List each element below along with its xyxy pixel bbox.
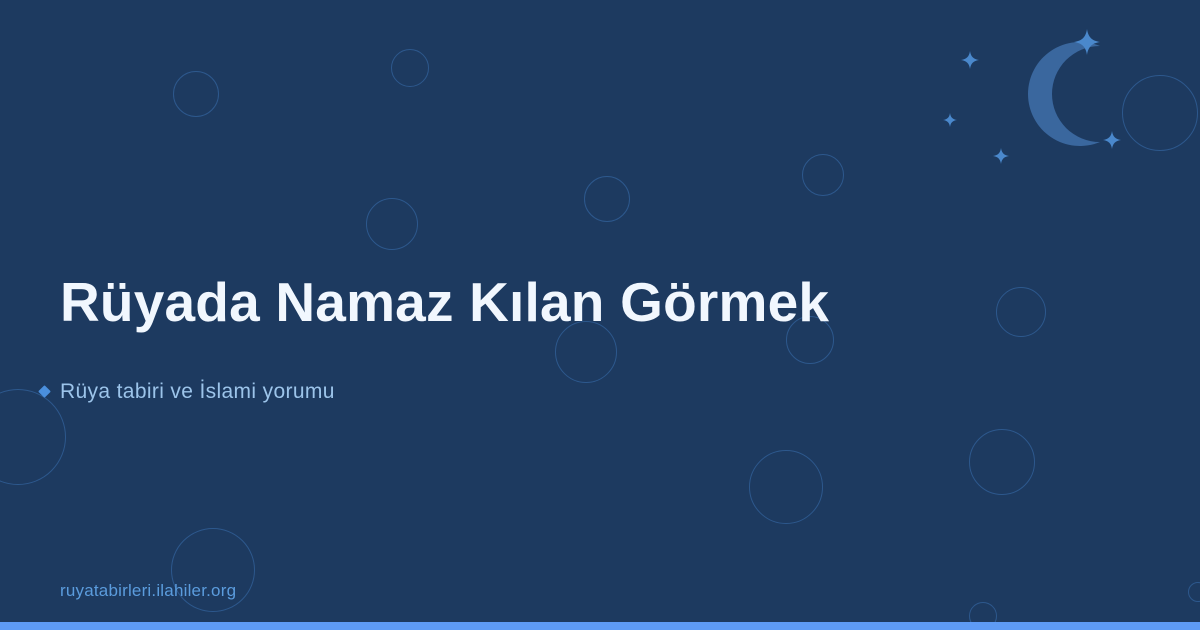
list-item: Rüya tabiri ve İslami yorumu xyxy=(40,379,335,404)
card-content: Rüyada Namaz Kılan Görmek Rüya tabiri ve… xyxy=(0,0,1200,630)
page-title: Rüyada Namaz Kılan Görmek xyxy=(60,272,829,334)
bullet-diamond-icon xyxy=(38,385,51,398)
subtitle-text: Rüya tabiri ve İslami yorumu xyxy=(60,379,335,404)
bottom-accent-bar xyxy=(0,622,1200,630)
site-url: ruyatabirleri.ilahiler.org xyxy=(60,581,236,601)
social-share-card: Rüyada Namaz Kılan Görmek Rüya tabiri ve… xyxy=(0,0,1200,630)
